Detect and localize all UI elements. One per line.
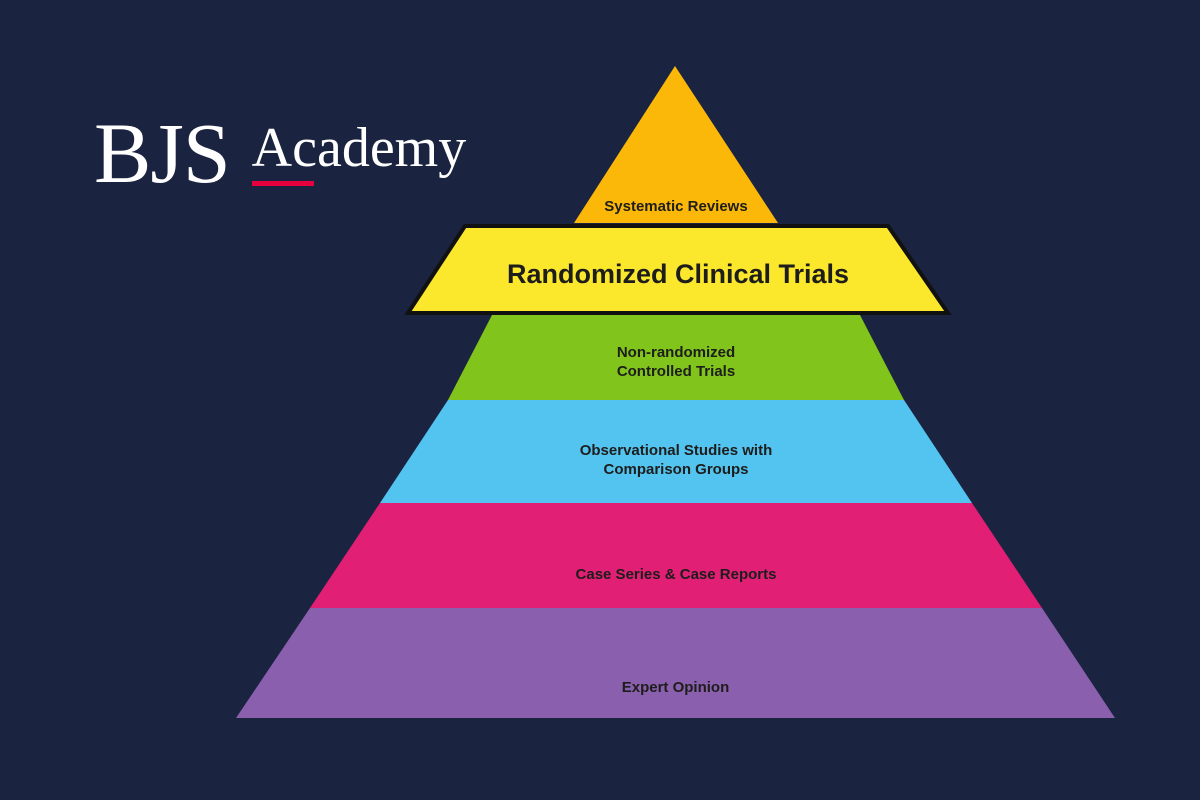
tier-label-case-series: Case Series & Case Reports bbox=[310, 566, 1042, 585]
pyramid-tier-case-series[interactable] bbox=[310, 503, 1042, 608]
tier-label-expert-opinion: Expert Opinion bbox=[236, 679, 1115, 698]
tier-label-observational-studies: Observational Studies with Comparison Gr… bbox=[380, 442, 972, 480]
evidence-pyramid-slide: BJS Academy Systematic Reviews Randomize… bbox=[0, 0, 1200, 800]
tier-label-randomized-clinical-trials: Randomized Clinical Trials bbox=[408, 258, 948, 292]
tier-label-systematic-reviews: Systematic Reviews bbox=[574, 198, 778, 217]
tier-label-non-randomized-trials: Non-randomized Controlled Trials bbox=[448, 344, 904, 382]
pyramid-tier-expert-opinion[interactable] bbox=[236, 608, 1115, 718]
